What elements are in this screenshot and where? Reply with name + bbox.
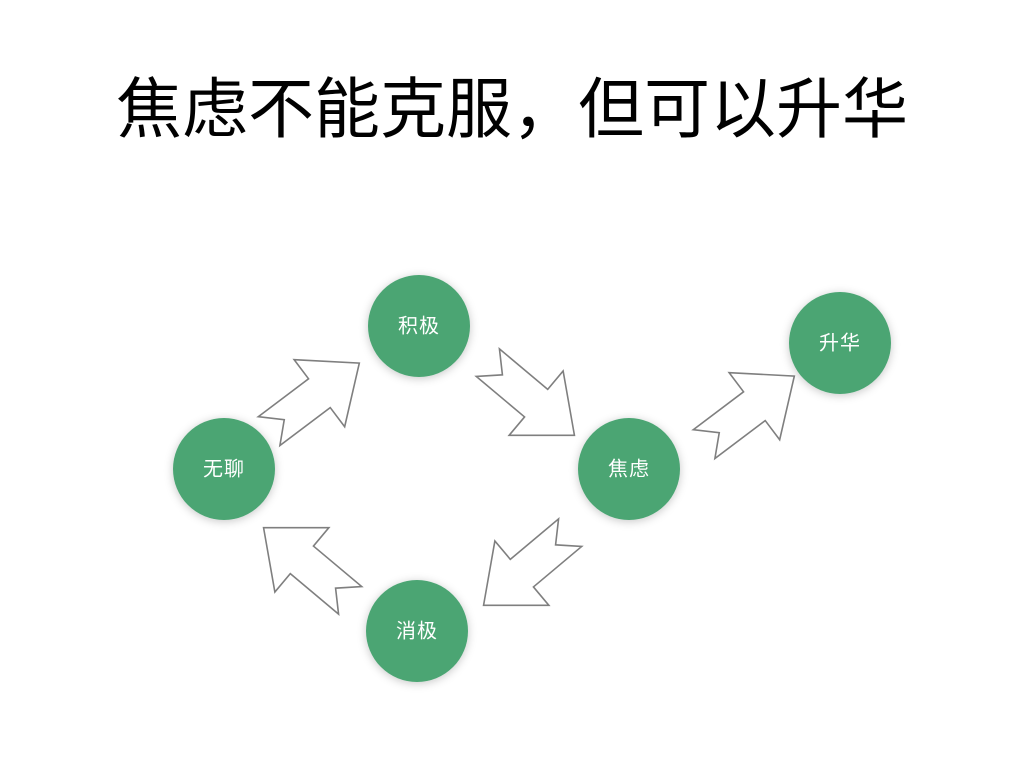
node-negative-label: 消极 xyxy=(396,619,438,643)
node-anxiety-label: 焦虑 xyxy=(608,457,650,481)
node-boredom[interactable]: 无聊 xyxy=(173,418,275,520)
arrow-positive-to-anxiety xyxy=(461,330,602,467)
node-sublimation-label: 升华 xyxy=(819,331,861,355)
node-boredom-label: 无聊 xyxy=(203,457,245,481)
node-positive[interactable]: 积极 xyxy=(368,275,470,377)
node-positive-label: 积极 xyxy=(398,314,440,338)
arrow-layer xyxy=(237,330,820,638)
arrow-negative-to-boredom xyxy=(237,496,378,633)
node-layer: 无聊 积极 焦虑 消极 升华 xyxy=(173,275,891,682)
arrow-anxiety-to-negative xyxy=(457,500,598,637)
cycle-diagram: 无聊 积极 焦虑 消极 升华 xyxy=(0,0,1024,768)
node-sublimation[interactable]: 升华 xyxy=(789,292,891,394)
slide-canvas: 焦虑不能克服，但可以升华 xyxy=(0,0,1024,768)
node-negative[interactable]: 消极 xyxy=(366,580,468,682)
node-anxiety[interactable]: 焦虑 xyxy=(578,418,680,520)
